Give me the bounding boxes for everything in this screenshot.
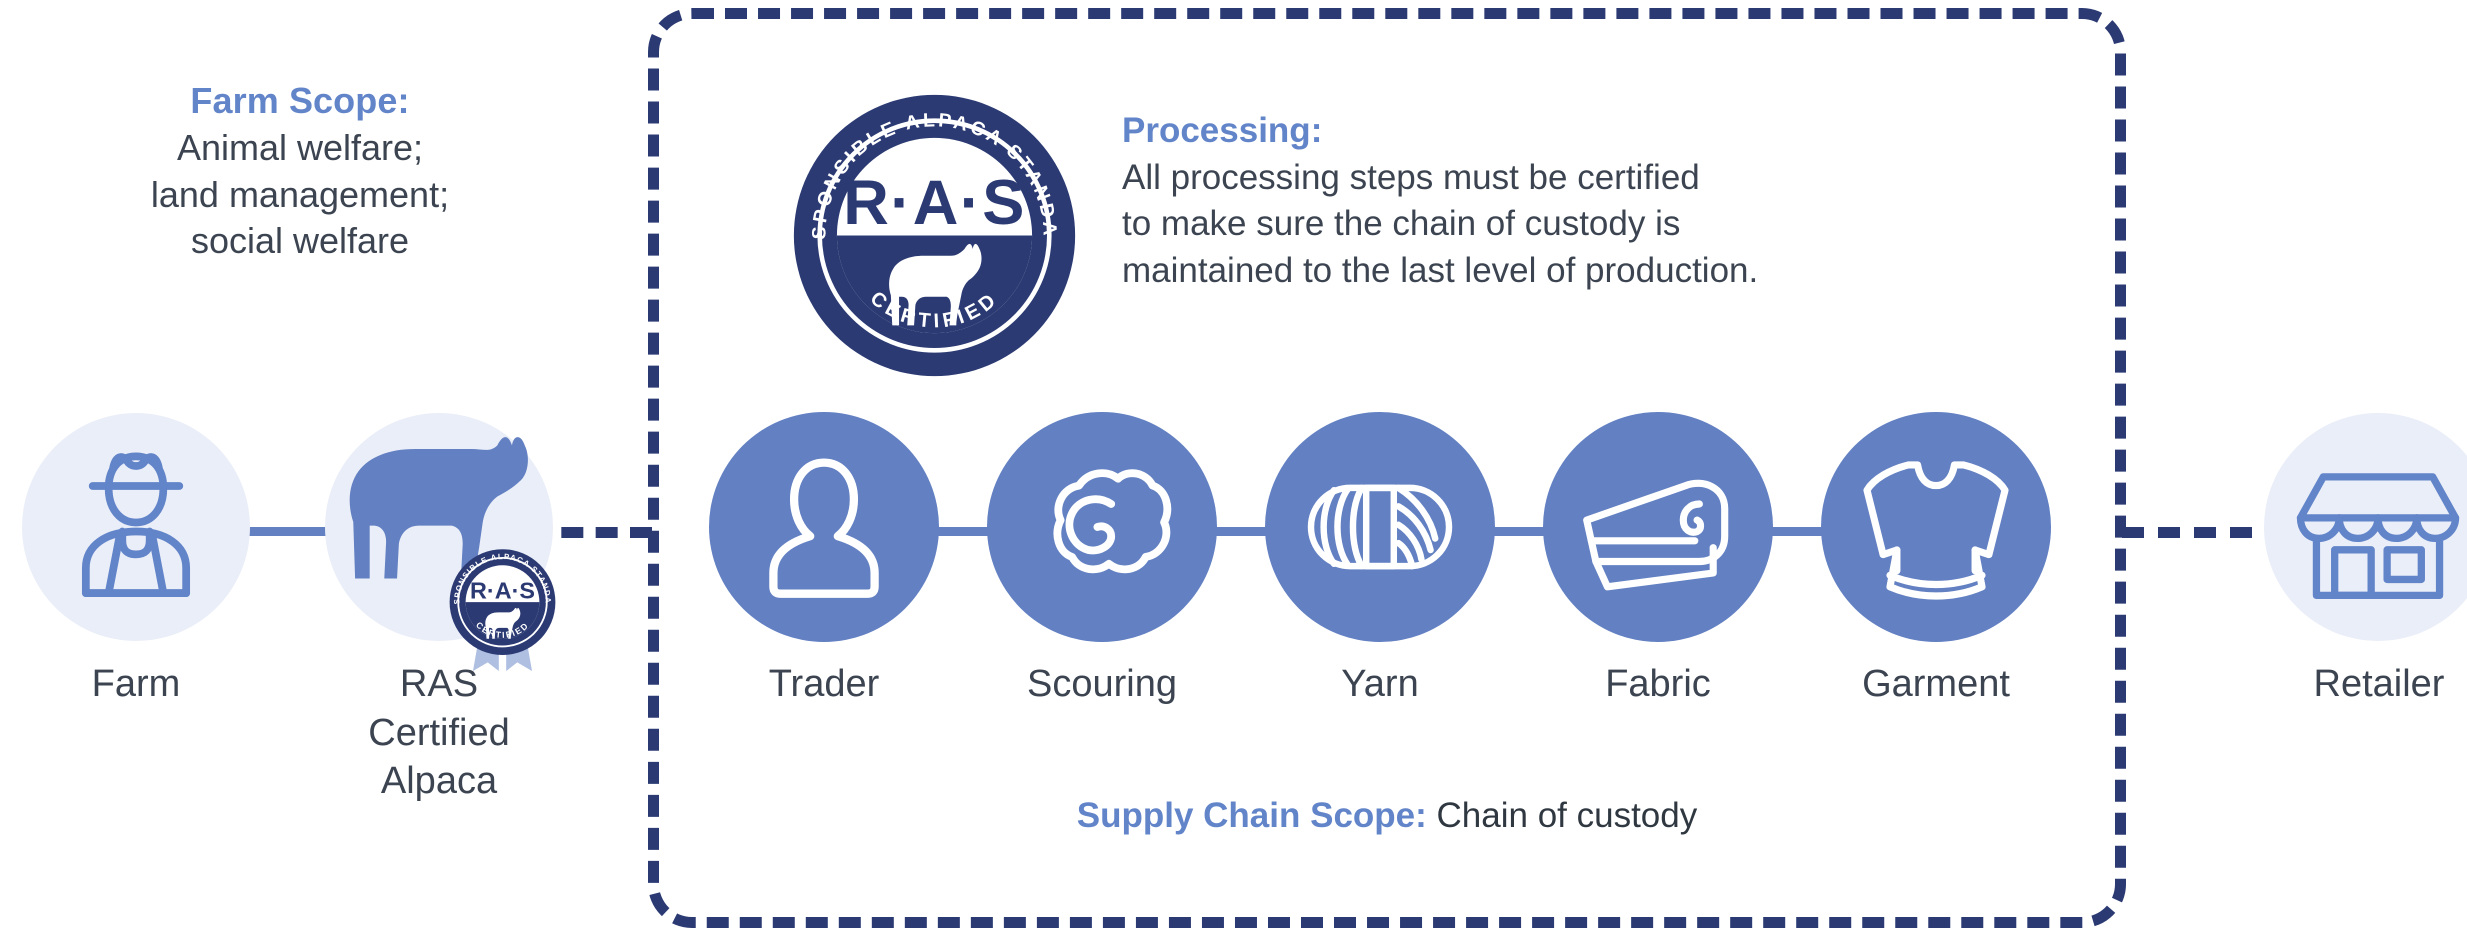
farm-scope-line-3: social welfare — [20, 218, 580, 265]
farm-scope-text: Farm Scope: Animal welfare; land managem… — [20, 78, 580, 265]
node-scouring-label: Scouring — [966, 660, 1238, 709]
processing-line-2: to make sure the chain of custody is — [1122, 201, 2002, 248]
supply-chain-scope-heading: Supply Chain Scope: — [1077, 796, 1427, 835]
node-farm-circle[interactable] — [22, 413, 250, 641]
wool-icon — [987, 412, 1217, 642]
node-ras-alpaca-label: RAS Certified Alpaca — [303, 660, 575, 806]
node-fabric-label: Fabric — [1522, 660, 1794, 709]
node-trader-label: Trader — [688, 660, 960, 709]
node-retailer-label: Retailer — [2243, 660, 2467, 709]
person-icon — [709, 412, 939, 642]
node-trader-circle[interactable] — [709, 412, 939, 642]
node-yarn-circle[interactable] — [1265, 412, 1495, 642]
seal-acronym: R·A·S — [843, 168, 1026, 238]
svg-text:R·A·S: R·A·S — [470, 577, 535, 603]
sweater-icon — [1821, 412, 2051, 642]
node-retailer-circle[interactable] — [2264, 413, 2467, 641]
node-yarn-label: Yarn — [1244, 660, 1516, 709]
yarn-icon — [1265, 412, 1495, 642]
node-garment-circle[interactable] — [1821, 412, 2051, 642]
connector-scope-to-retailer — [2122, 527, 2252, 538]
processing-text: Processing: All processing steps must be… — [1122, 108, 2002, 294]
processing-line-1: All processing steps must be certified — [1122, 155, 2002, 202]
processing-heading: Processing: — [1122, 108, 2002, 155]
supply-chain-scope-caption: Supply Chain Scope: Chain of custody — [648, 796, 2126, 836]
ras-badge-small: R·A·S RESPONSIBLE ALPACA STANDARD CERTIF… — [441, 548, 564, 676]
fabric-icon — [1543, 412, 1773, 642]
farm-scope-line-2: land management; — [20, 172, 580, 219]
processing-line-3: maintained to the last level of producti… — [1122, 248, 2002, 295]
node-scouring-circle[interactable] — [987, 412, 1217, 642]
storefront-icon — [2264, 413, 2467, 641]
diagram-canvas: Farm Scope: Animal welfare; land managem… — [0, 0, 2467, 946]
node-farm-label: Farm — [0, 660, 272, 709]
farm-scope-line-1: Animal welfare; — [20, 125, 580, 172]
farmer-icon — [22, 413, 250, 641]
ras-certification-seal: R·A·S RESPONSIBLE ALPACA STANDARD CERTIF… — [791, 92, 1078, 379]
node-fabric-circle[interactable] — [1543, 412, 1773, 642]
node-garment-label: Garment — [1800, 660, 2072, 709]
farm-scope-heading: Farm Scope: — [20, 78, 580, 125]
supply-chain-scope-value: Chain of custody — [1437, 796, 1698, 835]
